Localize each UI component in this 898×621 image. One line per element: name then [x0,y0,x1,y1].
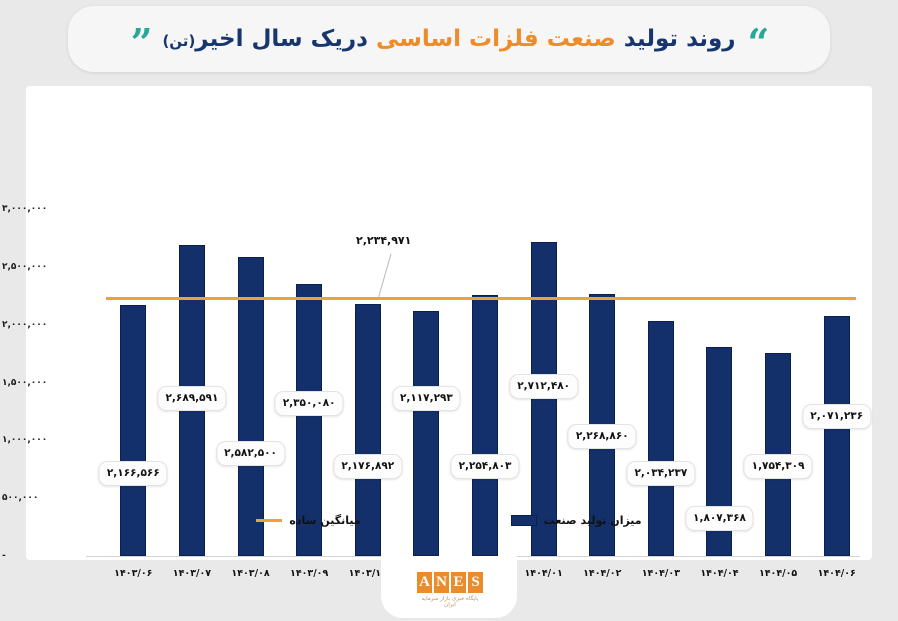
average-value-annotation: ۲,۲۳۴,۹۷۱ [356,234,411,247]
bar-value-label: ۲,۰۳۴,۲۳۷ [626,461,695,486]
header: “ روند تولید صنعت فلزات اساسی دریک سال ا… [0,0,898,86]
bar-value-label: ۲,۲۵۴,۸۰۳ [451,454,520,479]
average-line[interactable] [106,297,856,300]
legend-swatch-bar-icon [511,515,537,526]
y-axis-tick-label: ۲,۰۰۰,۰۰۰ [0,320,72,330]
chart-card: ۳,۰۰۰,۰۰۰۲,۵۰۰,۰۰۰۲,۰۰۰,۰۰۰۱,۵۰۰,۰۰۰۱,۰۰… [26,86,872,560]
title-panel: “ روند تولید صنعت فلزات اساسی دریک سال ا… [68,6,830,72]
sena-logo-letter: A [417,572,432,593]
bar-value-label: ۲,۱۷۶,۸۹۲ [333,454,402,479]
legend-item-average[interactable]: میانگین ساده [256,514,360,527]
legend-label-production: میزان تولید صنعت [544,514,642,527]
sena-logo-letter: N [434,572,449,593]
bar-value-label: ۲,۰۷۱,۲۳۶ [802,404,871,429]
y-axis-tick-label: ۵۰۰,۰۰۰ [0,493,72,503]
bar-value-label: ۲,۶۸۹,۵۹۱ [158,386,227,411]
page-title: روند تولید صنعت فلزات اساسی دریک سال اخی… [162,26,735,52]
bar-value-label: ۱,۸۰۷,۳۶۸ [685,506,754,531]
sena-logo: SENA پایگاه خبری بازار سرمایه ایران [416,572,484,608]
title-segment-navy-2: دریک سال اخیر [195,26,368,52]
bar-value-label: ۲,۳۵۰,۰۸۰ [275,391,344,416]
bar[interactable] [238,257,264,556]
bar-value-label: ۲,۱۱۷,۲۹۳ [392,386,461,411]
bar-value-label: ۲,۷۱۲,۴۸۰ [509,374,578,399]
y-axis-tick-label: ۱,۵۰۰,۰۰۰ [0,378,72,388]
sena-logo-letters: SENA [416,572,484,593]
y-axis-tick-label: ۳,۰۰۰,۰۰۰ [0,204,72,214]
bars-layer [26,86,872,560]
sena-logo-letter: E [451,572,466,593]
title-segment-navy-1: روند تولید [624,26,736,52]
legend-item-production[interactable]: میزان تولید صنعت [511,514,642,527]
legend-label-average: میانگین ساده [289,514,360,527]
sena-logo-subtitle: پایگاه خبری بازار سرمایه ایران [416,596,484,608]
y-axis-tick-label: ۱,۰۰۰,۰۰۰ [0,435,72,445]
chart-plot-area: ۳,۰۰۰,۰۰۰۲,۵۰۰,۰۰۰۲,۰۰۰,۰۰۰۱,۵۰۰,۰۰۰۱,۰۰… [26,86,872,560]
y-axis-tick-label: ۲,۵۰۰,۰۰۰ [0,262,72,272]
legend-swatch-line-icon [256,519,282,522]
title-segment-orange: صنعت فلزات اساسی [376,26,616,52]
sena-logo-letter: S [468,572,483,593]
bar-value-label: ۱,۷۵۴,۳۰۹ [744,454,813,479]
bar[interactable] [531,242,557,556]
bar-value-label: ۲,۵۸۲,۵۰۰ [216,441,285,466]
bar-value-label: ۲,۱۶۶,۵۶۶ [99,461,168,486]
quote-open-icon: “ [748,24,768,62]
quote-close-icon: ” [131,24,151,62]
title-unit: (تن) [162,32,195,50]
bar-value-label: ۲,۲۶۸,۸۶۰ [568,424,637,449]
